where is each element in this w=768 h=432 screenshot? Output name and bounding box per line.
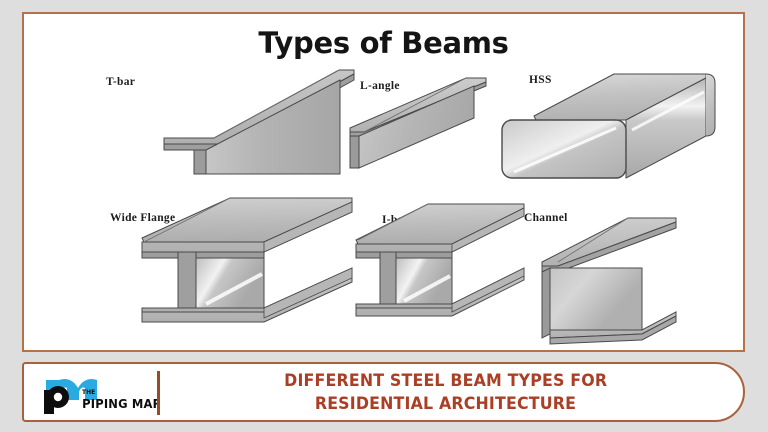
- caption-line-2: RESIDENTIAL ARCHITECTURE: [315, 394, 576, 414]
- beam-label-t-bar: T-bar: [106, 76, 135, 88]
- piping-mart-logo[interactable]: THE PIPING MART: [38, 372, 158, 416]
- footer-caption: DIFFERENT STEEL BEAM TYPES FOR RESIDENTI…: [174, 364, 717, 420]
- wide-flange-beam-icon: [130, 196, 365, 346]
- t-bar-beam-icon: [154, 62, 364, 177]
- slide-canvas: Types of Beams T-bar: [0, 0, 768, 432]
- caption-line-1: DIFFERENT STEEL BEAM TYPES FOR: [284, 371, 607, 391]
- hss-tube-beam-icon: [492, 64, 727, 189]
- channel-beam-icon: [524, 204, 724, 349]
- diagram-panel: Types of Beams T-bar: [22, 12, 745, 352]
- i-beam-icon: [352, 200, 537, 345]
- logo-the-text: THE: [82, 389, 95, 396]
- page-title: Types of Beams: [24, 26, 743, 60]
- footer-bar: THE PIPING MART DIFFERENT STEEL BEAM TYP…: [22, 362, 745, 422]
- l-angle-beam-icon: [334, 72, 494, 172]
- logo-p-mark: [44, 386, 69, 414]
- footer-divider: [157, 371, 160, 415]
- logo-brand-text: PIPING MART: [82, 397, 158, 412]
